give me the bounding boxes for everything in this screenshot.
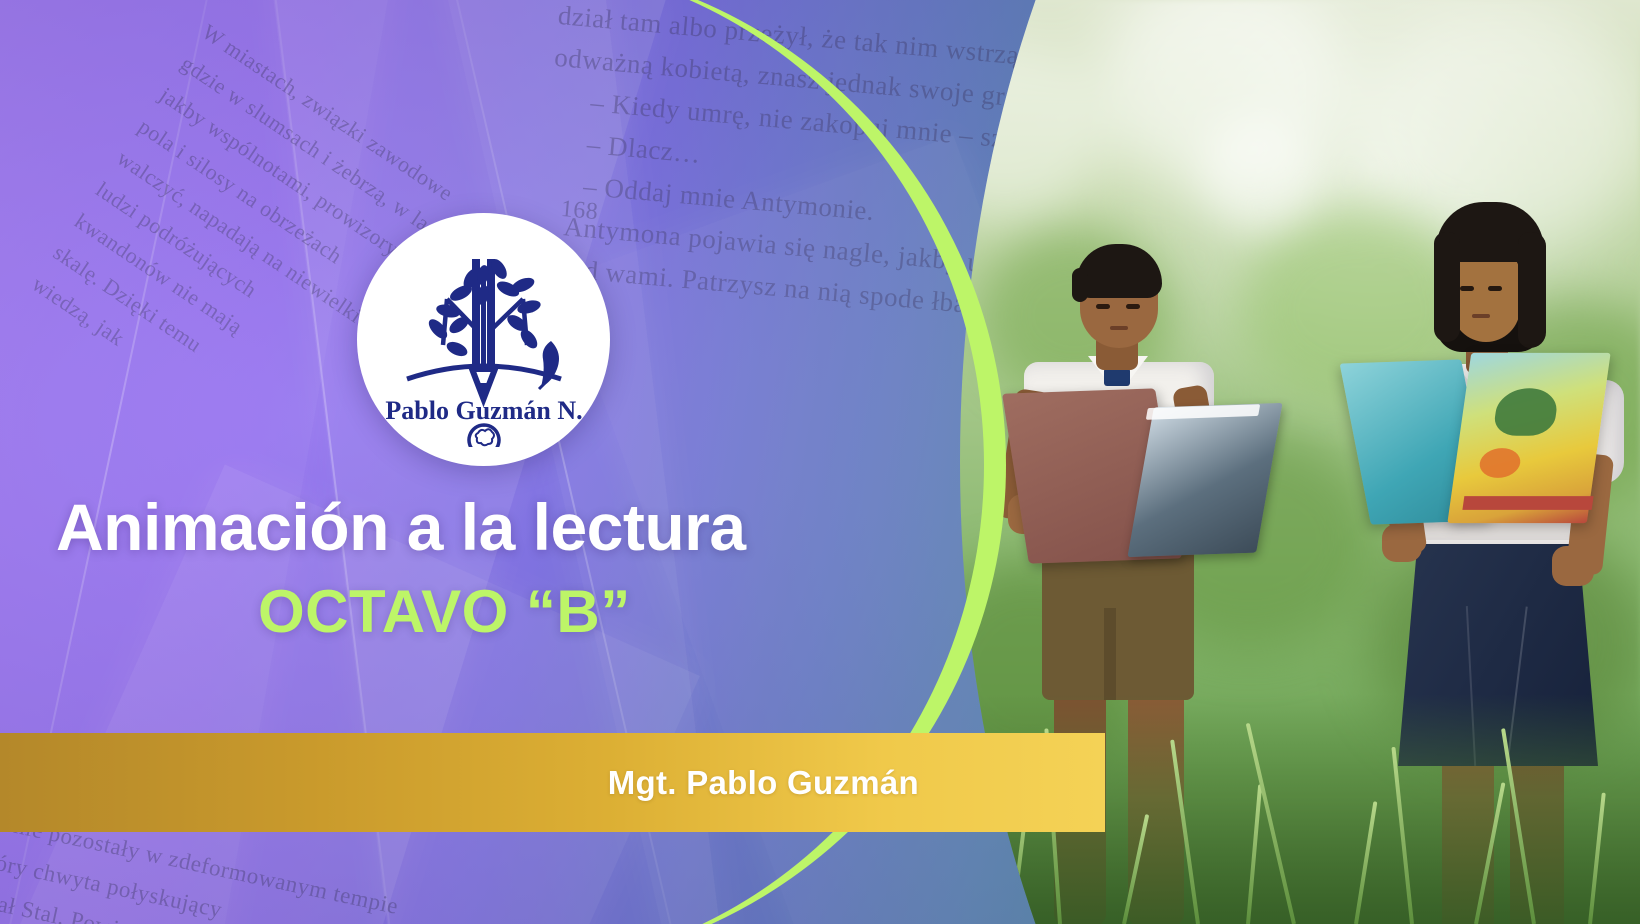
- pencil-tree-icon: [407, 256, 561, 399]
- logo-artwork: Pablo Guzmán N.: [377, 233, 591, 447]
- presenter-name: Mgt. Pablo Guzmán: [608, 764, 1105, 802]
- presentation-slide: dział tam albo przeżył, że tak nim wstrz…: [0, 0, 1640, 924]
- lightbulb-brain-icon: [469, 425, 499, 447]
- book-pages-open: [1127, 403, 1282, 557]
- logo-badge: Pablo Guzmán N.: [357, 213, 610, 466]
- slide-title: Animación a la lectura: [56, 494, 936, 560]
- logo-brand-name: Pablo Guzmán N.: [385, 396, 582, 425]
- slide-subtitle: OCTAVO “B”: [258, 582, 958, 642]
- presenter-bar: Mgt. Pablo Guzmán: [0, 733, 1105, 832]
- quill-feather-icon: [539, 341, 559, 389]
- page-number: 168: [560, 196, 600, 226]
